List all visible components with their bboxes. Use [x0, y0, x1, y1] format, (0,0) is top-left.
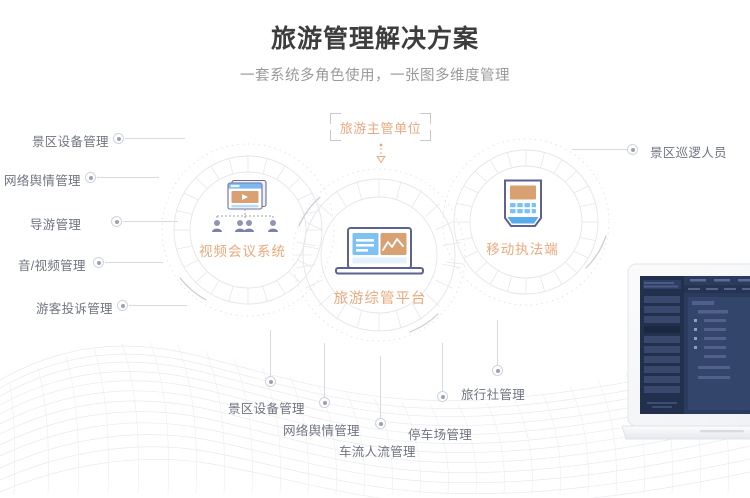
left-connector-line-3	[105, 262, 163, 263]
bottom-connector-label-2[interactable]: 车流人流管理	[339, 441, 416, 460]
video-window-icon	[204, 176, 282, 234]
node-caption-tourism-platform: 旅游综管平台	[305, 287, 455, 308]
bottom-connector-dot-0	[265, 376, 276, 387]
page-subtitle: 一套系统多角色使用，一张图多维度管理	[0, 66, 750, 86]
laptop-mockup	[622, 258, 750, 458]
left-connector-label-2[interactable]: 导游管理	[30, 214, 81, 233]
right-connector-label-0[interactable]: 景区巡逻人员	[650, 142, 727, 161]
bottom-connector-dot-2	[375, 418, 386, 429]
left-connector-line-0	[125, 138, 185, 139]
bottom-connector-label-1[interactable]: 网络舆情管理	[283, 420, 360, 439]
node-caption-mobile-enforcement: 移动执法端	[455, 238, 590, 258]
left-connector-dot-0	[113, 133, 124, 144]
bottom-connector-line-2	[380, 356, 381, 418]
bottom-connector-line-4	[497, 320, 498, 365]
left-connector-label-3[interactable]: 音/视频管理	[18, 255, 86, 274]
right-connector-dot-0	[627, 144, 638, 155]
bottom-connector-dot-3	[437, 391, 448, 402]
solution-diagram-page: 旅游管理解决方案 一套系统多角色使用，一张图多维度管理 旅游主管单位	[0, 0, 750, 498]
node-caption-video-conference: 视频会议系统	[170, 240, 315, 260]
bottom-connector-dot-1	[319, 397, 330, 408]
bottom-connector-line-1	[324, 343, 325, 397]
page-title: 旅游管理解决方案	[0, 22, 750, 56]
authority-box[interactable]: 旅游主管单位	[330, 113, 431, 141]
authority-label: 旅游主管单位	[340, 118, 422, 137]
left-connector-label-0[interactable]: 景区设备管理	[32, 131, 109, 150]
corner-bracket-top-right	[420, 113, 431, 124]
bottom-connector-dot-4	[492, 365, 503, 376]
laptop-dashboard-icon	[331, 226, 428, 280]
left-connector-line-4	[129, 305, 187, 306]
right-connector-line-0	[572, 149, 627, 150]
left-connector-dot-1	[85, 172, 96, 183]
corner-bracket-top-left	[330, 113, 341, 124]
down-arrow-icon	[373, 143, 389, 165]
left-connector-line-2	[123, 221, 178, 222]
page-header: 旅游管理解决方案 一套系统多角色使用，一张图多维度管理	[0, 22, 750, 86]
left-connector-dot-4	[117, 300, 128, 311]
left-connector-label-4[interactable]: 游客投诉管理	[36, 298, 113, 317]
left-connector-dot-2	[111, 216, 122, 227]
bottom-connector-line-3	[442, 343, 443, 391]
left-connector-label-1[interactable]: 网络舆情管理	[4, 170, 81, 189]
left-connector-line-1	[97, 177, 159, 178]
mobile-device-icon	[499, 178, 547, 236]
bottom-connector-label-0[interactable]: 景区设备管理	[228, 398, 305, 417]
bottom-connector-label-4[interactable]: 旅行社管理	[461, 384, 525, 403]
left-connector-dot-3	[93, 257, 104, 268]
bottom-connector-label-3[interactable]: 停车场管理	[408, 424, 472, 443]
bottom-connector-line-0	[270, 330, 271, 376]
corner-bracket-bottom-right	[420, 130, 431, 141]
